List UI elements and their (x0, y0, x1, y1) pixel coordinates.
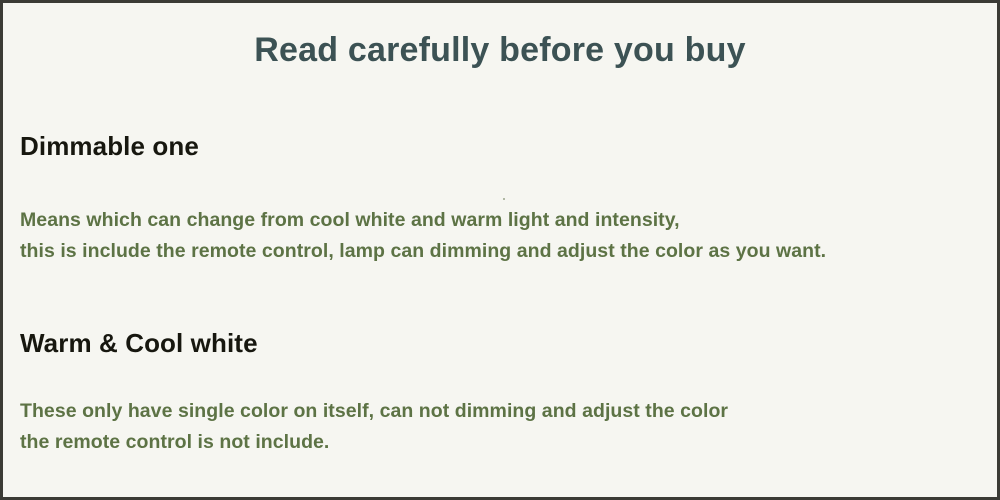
body-line: the remote control is not include. (20, 427, 980, 458)
section-body-warm-cool-white: These only have single color on itself, … (20, 396, 980, 458)
image-speck-artifact (503, 198, 505, 200)
body-line: this is include the remote control, lamp… (20, 236, 980, 267)
section-heading-dimmable-one: Dimmable one (20, 131, 980, 162)
section-warm-cool-white: Warm & Cool white These only have single… (20, 328, 980, 458)
body-line: These only have single color on itself, … (20, 396, 980, 427)
section-body-dimmable-one: Means which can change from cool white a… (20, 205, 980, 267)
body-line: Means which can change from cool white a… (20, 205, 980, 236)
page-title: Read carefully before you buy (3, 31, 997, 70)
section-heading-warm-cool-white: Warm & Cool white (20, 328, 980, 359)
section-dimmable-one: Dimmable one Means which can change from… (20, 131, 980, 267)
product-info-banner: Read carefully before you buy Dimmable o… (0, 0, 1000, 500)
